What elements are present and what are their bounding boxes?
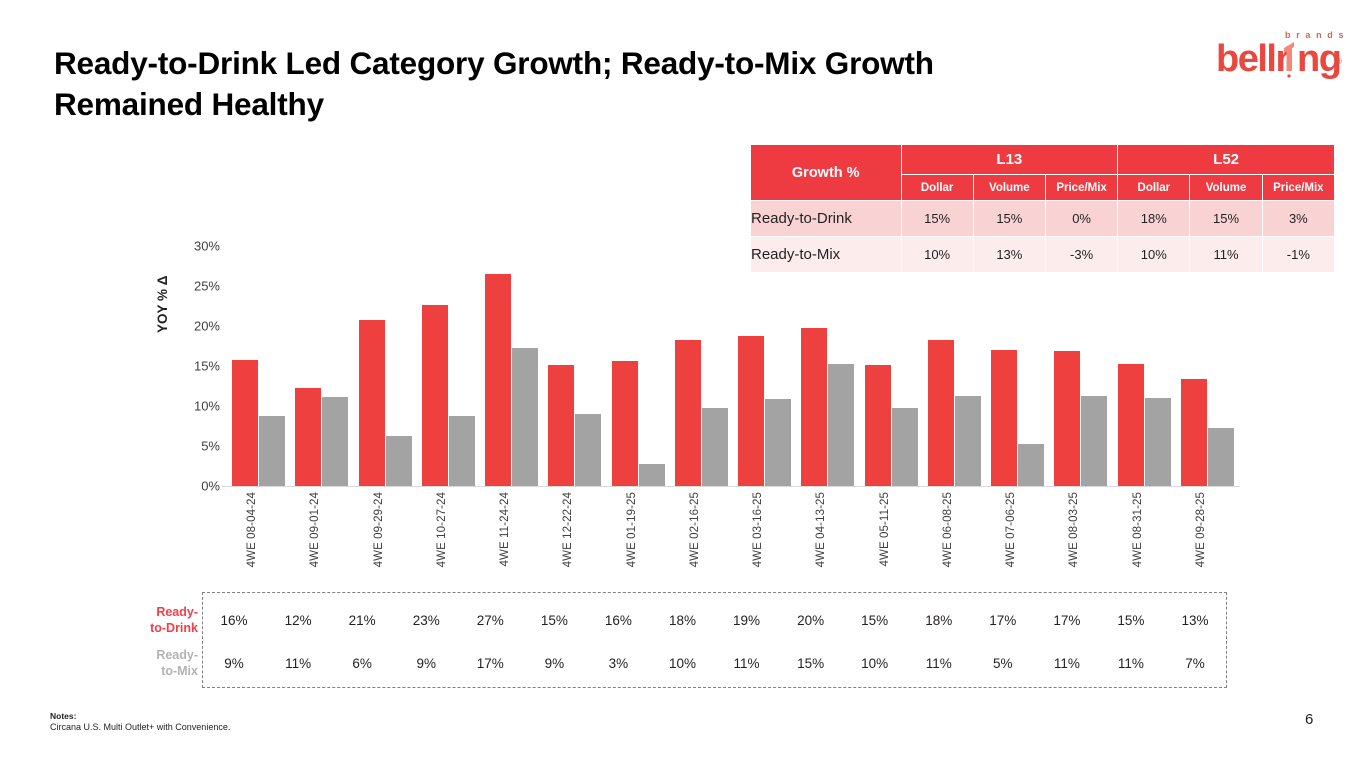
data-table-cell: 3% [587, 656, 649, 671]
data-table-cell: 17% [972, 613, 1034, 628]
bar-ready-to-mix [828, 364, 854, 486]
data-table-values: 16%12%21%23%27%15%16%18%19%20%15%18%17%1… [202, 592, 1227, 688]
bar-ready-to-drink [548, 365, 574, 486]
bar-group [612, 246, 665, 486]
data-table-cell: 6% [331, 656, 393, 671]
bar-group [738, 246, 791, 486]
bellring-brands-logo: bellr ng b r a n d s ® [1215, 24, 1343, 80]
data-table-cell: 20% [780, 613, 842, 628]
bar-ready-to-drink [1118, 364, 1144, 486]
bar-ready-to-mix [639, 464, 665, 486]
bar-ready-to-drink [991, 350, 1017, 486]
bar-ready-to-mix [575, 414, 601, 486]
bar-ready-to-drink [928, 340, 954, 486]
notes-label: Notes: [50, 711, 230, 721]
bar-ready-to-mix [322, 397, 348, 486]
bar-ready-to-drink [295, 388, 321, 486]
x-tick-label: 4WE 09-29-24 [373, 492, 387, 567]
bar-ready-to-drink [612, 361, 638, 486]
col-l13-dollar: Dollar [901, 175, 973, 201]
x-axis-tick-labels: 4WE 08-04-244WE 09-01-244WE 09-29-244WE … [228, 492, 1240, 568]
x-tick-label: 4WE 02-16-25 [689, 492, 703, 567]
bar-ready-to-mix [512, 348, 538, 486]
y-tick-label: 5% [201, 439, 220, 454]
notes-text: Circana U.S. Multi Outlet+ with Convenie… [50, 722, 230, 732]
bar-group [548, 246, 601, 486]
bar-group [928, 246, 981, 486]
bar-group [1118, 246, 1171, 486]
x-tick-label: 4WE 01-19-25 [626, 492, 640, 567]
data-table-cell: 18% [908, 613, 970, 628]
data-table-cell: 11% [716, 656, 778, 671]
row-label-ready-to-drink: Ready-to-Drink [751, 201, 902, 237]
bar-group [295, 246, 348, 486]
data-table-cell: 17% [1036, 613, 1098, 628]
data-table-cell: 16% [203, 613, 265, 628]
data-table-cell: 15% [844, 613, 906, 628]
bar-ready-to-drink [232, 360, 258, 486]
bar-ready-to-mix [449, 416, 475, 486]
series-label-rtm-line2: to-Mix [161, 664, 198, 678]
col-l52-pricemix: Price/Mix [1262, 175, 1334, 201]
data-table-cell: 5% [972, 656, 1034, 671]
bar-group [675, 246, 728, 486]
data-table-cell: 16% [587, 613, 649, 628]
data-table-cell: 11% [1100, 656, 1162, 671]
x-axis-baseline [222, 486, 1240, 487]
cell-rtd-l13-pricemix: 0% [1045, 201, 1117, 237]
bar-ready-to-drink [675, 340, 701, 486]
col-l52-dollar: Dollar [1118, 175, 1190, 201]
growth-corner-label: Growth % [751, 145, 902, 201]
data-table-cell: 15% [780, 656, 842, 671]
x-tick-label: 4WE 08-04-24 [246, 492, 260, 567]
bar-ready-to-drink [801, 328, 827, 486]
table-row: Ready-to-Drink 15% 15% 0% 18% 15% 3% [751, 201, 1335, 237]
bar-ready-to-drink [485, 274, 511, 486]
bar-group [422, 246, 475, 486]
svg-text:bellr: bellr [1216, 38, 1290, 80]
bar-ready-to-drink [865, 365, 891, 486]
data-table-cell: 21% [331, 613, 393, 628]
data-table-cell: 11% [1036, 656, 1098, 671]
bar-ready-to-mix [1145, 398, 1171, 486]
bar-group [1054, 246, 1107, 486]
bar-ready-to-drink [1181, 379, 1207, 486]
period-group-l52: L52 [1118, 145, 1335, 175]
data-table-cell: 18% [651, 613, 713, 628]
col-l13-pricemix: Price/Mix [1045, 175, 1117, 201]
bar-group [1181, 246, 1234, 486]
data-table-cell: 10% [651, 656, 713, 671]
series-label-rtm-line1: Ready- [156, 648, 198, 662]
bar-ready-to-drink [422, 305, 448, 486]
bar-group [359, 246, 412, 486]
data-table-cell: 13% [1164, 613, 1226, 628]
x-tick-label: 4WE 03-16-25 [752, 492, 766, 567]
y-tick-label: 0% [201, 479, 220, 494]
svg-text:®: ® [1336, 57, 1342, 66]
cell-rtd-l13-volume: 15% [973, 201, 1045, 237]
x-tick-label: 4WE 08-03-25 [1068, 492, 1082, 567]
bar-ready-to-mix [259, 416, 285, 486]
y-tick-label: 15% [194, 359, 220, 374]
bar-group [865, 246, 918, 486]
cell-rtm-l52-pricemix: -1% [1262, 237, 1334, 273]
x-tick-label: 4WE 09-01-24 [309, 492, 323, 567]
bar-group [991, 246, 1044, 486]
data-table-cell: 19% [716, 613, 778, 628]
x-tick-label: 4WE 08-31-25 [1132, 492, 1146, 567]
data-table-cell: 11% [908, 656, 970, 671]
bar-ready-to-mix [1208, 428, 1234, 486]
x-tick-label: 4WE 05-11-25 [879, 492, 893, 567]
data-table-cell: 9% [203, 656, 265, 671]
bar-ready-to-mix [1081, 396, 1107, 486]
cell-rtd-l52-volume: 15% [1190, 201, 1262, 237]
x-tick-label: 4WE 06-08-25 [942, 492, 956, 567]
y-tick-label: 20% [194, 319, 220, 334]
bar-ready-to-mix [1018, 444, 1044, 486]
bar-group [801, 246, 854, 486]
data-table-cell: 10% [844, 656, 906, 671]
bar-ready-to-mix [765, 399, 791, 486]
col-l52-volume: Volume [1190, 175, 1262, 201]
bar-ready-to-drink [738, 336, 764, 486]
logo-tagline: b r a n d s [1285, 30, 1343, 40]
x-tick-label: 4WE 11-24-24 [499, 492, 513, 567]
bar-ready-to-drink [1054, 351, 1080, 486]
x-tick-label: 4WE 12-22-24 [562, 492, 576, 567]
notes-block: Notes: Circana U.S. Multi Outlet+ with C… [50, 711, 230, 732]
data-table-cell: 23% [395, 613, 457, 628]
data-table-cell: 7% [1164, 656, 1226, 671]
page-number: 6 [1305, 711, 1313, 728]
bar-ready-to-mix [386, 436, 412, 486]
data-table-cell: 12% [267, 613, 329, 628]
series-label-ready-to-drink: Ready- to-Drink [130, 604, 198, 636]
x-tick-label: 4WE 07-06-25 [1005, 492, 1019, 567]
y-tick-label: 30% [194, 239, 220, 254]
table-header-row-periods: Growth % L13 L52 [751, 145, 1335, 175]
data-table-cell: 27% [459, 613, 521, 628]
bar-ready-to-mix [955, 396, 981, 486]
y-tick-label: 10% [194, 399, 220, 414]
col-l13-volume: Volume [973, 175, 1045, 201]
bar-ready-to-mix [702, 408, 728, 486]
svg-text:ng: ng [1297, 38, 1340, 80]
series-label-rtd-line2: to-Drink [150, 621, 198, 635]
bar-group [485, 246, 538, 486]
plot-bars [228, 246, 1240, 486]
series-label-ready-to-mix: Ready- to-Mix [130, 647, 198, 679]
bar-group [232, 246, 285, 486]
page-title: Ready-to-Drink Led Category Growth; Read… [54, 43, 1074, 124]
x-tick-label: 4WE 09-28-25 [1195, 492, 1209, 567]
cell-rtd-l13-dollar: 15% [901, 201, 973, 237]
period-group-l13: L13 [901, 145, 1118, 175]
data-table-cell: 15% [523, 613, 585, 628]
bar-ready-to-mix [892, 408, 918, 486]
cell-rtd-l52-pricemix: 3% [1262, 201, 1334, 237]
y-axis-title: YOY % Δ [155, 276, 170, 333]
data-table-cell: 15% [1100, 613, 1162, 628]
y-axis-tick-labels: 0%5%10%15%20%25%30% [176, 238, 220, 494]
x-tick-label: 4WE 04-13-25 [815, 492, 829, 567]
slide: Ready-to-Drink Led Category Growth; Read… [0, 0, 1365, 768]
data-table-cell: 9% [523, 656, 585, 671]
data-table-cell: 17% [459, 656, 521, 671]
bar-ready-to-drink [359, 320, 385, 486]
series-label-rtd-line1: Ready- [156, 605, 198, 619]
cell-rtd-l52-dollar: 18% [1118, 201, 1190, 237]
data-table-cell: 9% [395, 656, 457, 671]
data-table-cell: 11% [267, 656, 329, 671]
x-tick-label: 4WE 10-27-24 [436, 492, 450, 567]
y-tick-label: 25% [194, 279, 220, 294]
